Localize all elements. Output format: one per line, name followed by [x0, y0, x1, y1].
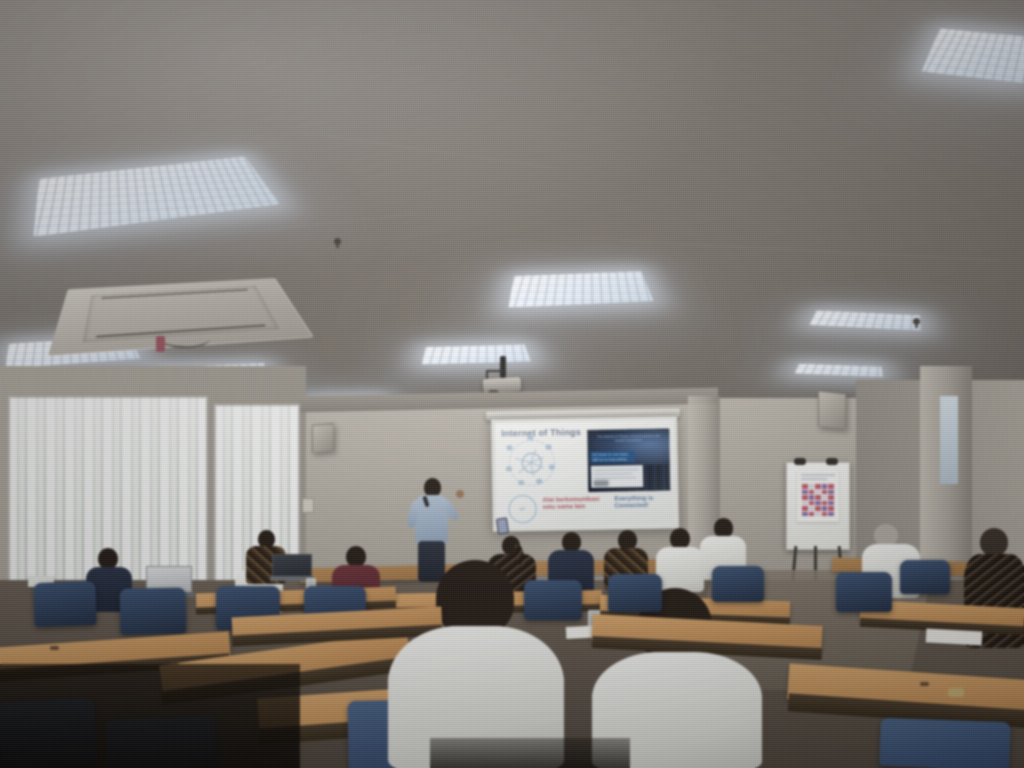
poster-cell [815, 484, 821, 489]
attendee-head [980, 528, 1008, 556]
red-tag [156, 336, 165, 352]
poster-cell [815, 506, 821, 511]
wall-speaker [312, 423, 334, 453]
iot-node [518, 480, 524, 485]
schedule-poster [797, 470, 839, 522]
chair[interactable] [608, 574, 662, 612]
poster-cell [828, 501, 834, 506]
poster-grid [802, 484, 834, 516]
poster-cell [809, 501, 815, 506]
laptop-lid [272, 554, 312, 578]
ceiling-light-panel [508, 271, 653, 307]
presenter-hand [456, 490, 464, 498]
attendee-head [98, 548, 118, 569]
slide-title: Internet of Things [501, 427, 581, 438]
iot-node [506, 445, 512, 450]
window-right [940, 396, 958, 484]
poster-cell [828, 484, 834, 489]
chair[interactable] [836, 572, 892, 612]
attendee-head [618, 530, 637, 550]
chair[interactable] [33, 581, 96, 627]
chair[interactable] [524, 580, 582, 620]
light-louver [508, 271, 653, 307]
projection-screen: Internet of Things The Internet of Thing… [491, 416, 679, 531]
poster-cell [822, 512, 828, 517]
sprinkler-head [334, 238, 341, 245]
poster-cell [828, 506, 834, 511]
vertical-blinds [940, 396, 958, 484]
chair-foreground[interactable] [879, 718, 1011, 768]
poster-cell [815, 490, 821, 495]
poster-cell [802, 506, 808, 511]
flipchart-whiteboard[interactable] [786, 462, 850, 550]
light-louver [422, 345, 531, 365]
attendee-shirt [656, 547, 704, 592]
poster-cell [809, 495, 815, 500]
shadow-region [430, 738, 630, 768]
slide-content: Internet of Things The Internet of Thing… [495, 420, 675, 527]
wristwatch [948, 688, 964, 697]
poster-header [801, 478, 827, 480]
phone-screen [497, 518, 508, 533]
panel-small-block [594, 481, 608, 486]
poster-cell [802, 512, 808, 517]
poster-cell [822, 484, 828, 489]
slide-caption-left: Alat berkomunikasi satu sama lain [542, 496, 608, 512]
cable-grommet [50, 646, 59, 650]
poster-cell [822, 501, 828, 506]
poster-cell [809, 490, 815, 495]
poster-cell [828, 490, 834, 495]
documents [926, 629, 983, 646]
poster-cell [822, 490, 828, 495]
iot-node [545, 445, 551, 450]
sprinkler-head [913, 318, 920, 325]
attendee-head [346, 546, 366, 567]
poster-header [801, 474, 835, 476]
poster-cell [815, 501, 821, 506]
poster-cell [809, 484, 815, 489]
poster-cell [822, 495, 828, 500]
panel-badge: IoT home for very basic, still not so lo… [591, 451, 635, 463]
poster-cell [815, 512, 821, 517]
poster-cell [822, 506, 828, 511]
chair[interactable] [120, 587, 187, 634]
attendee-head [714, 518, 733, 538]
hanging-cable [160, 330, 210, 348]
poster-cell [802, 501, 808, 506]
cable-grommet [920, 682, 929, 686]
iot-logo: IoT [508, 495, 536, 523]
iot-node [527, 435, 533, 440]
photo-seminar-room: Internet of Things The Internet of Thing… [0, 0, 1024, 768]
poster-cell [809, 512, 815, 517]
poster-cell [802, 490, 808, 495]
poster-cell [809, 506, 815, 511]
poster-cell [828, 512, 834, 517]
wall-speaker [818, 391, 846, 430]
poster-cell [802, 495, 808, 500]
flipchart-clip [794, 458, 806, 465]
smartphone[interactable] [496, 517, 509, 534]
attendee-head-grey [874, 524, 898, 546]
poster-cell [815, 495, 821, 500]
chair[interactable] [712, 566, 764, 602]
shadow-region [0, 664, 300, 768]
panel-text: The Internet of Things connects devices … [593, 434, 663, 444]
attendee-head [562, 532, 581, 552]
light-switch-plate[interactable] [302, 498, 314, 513]
flipchart-clip [826, 458, 838, 465]
iot-node [506, 466, 512, 471]
iot-node [549, 465, 555, 470]
attendee-head [670, 528, 690, 549]
chair[interactable] [900, 560, 950, 594]
poster-cell [828, 495, 834, 500]
poster-cell [802, 484, 808, 489]
slide-caption-right: Everything is Connected! [614, 495, 666, 511]
slide-image-panel: The Internet of Things connects devices … [587, 429, 670, 492]
ceiling-light-panel [422, 345, 531, 365]
attendee-head [436, 560, 514, 636]
iot-node [536, 479, 542, 484]
